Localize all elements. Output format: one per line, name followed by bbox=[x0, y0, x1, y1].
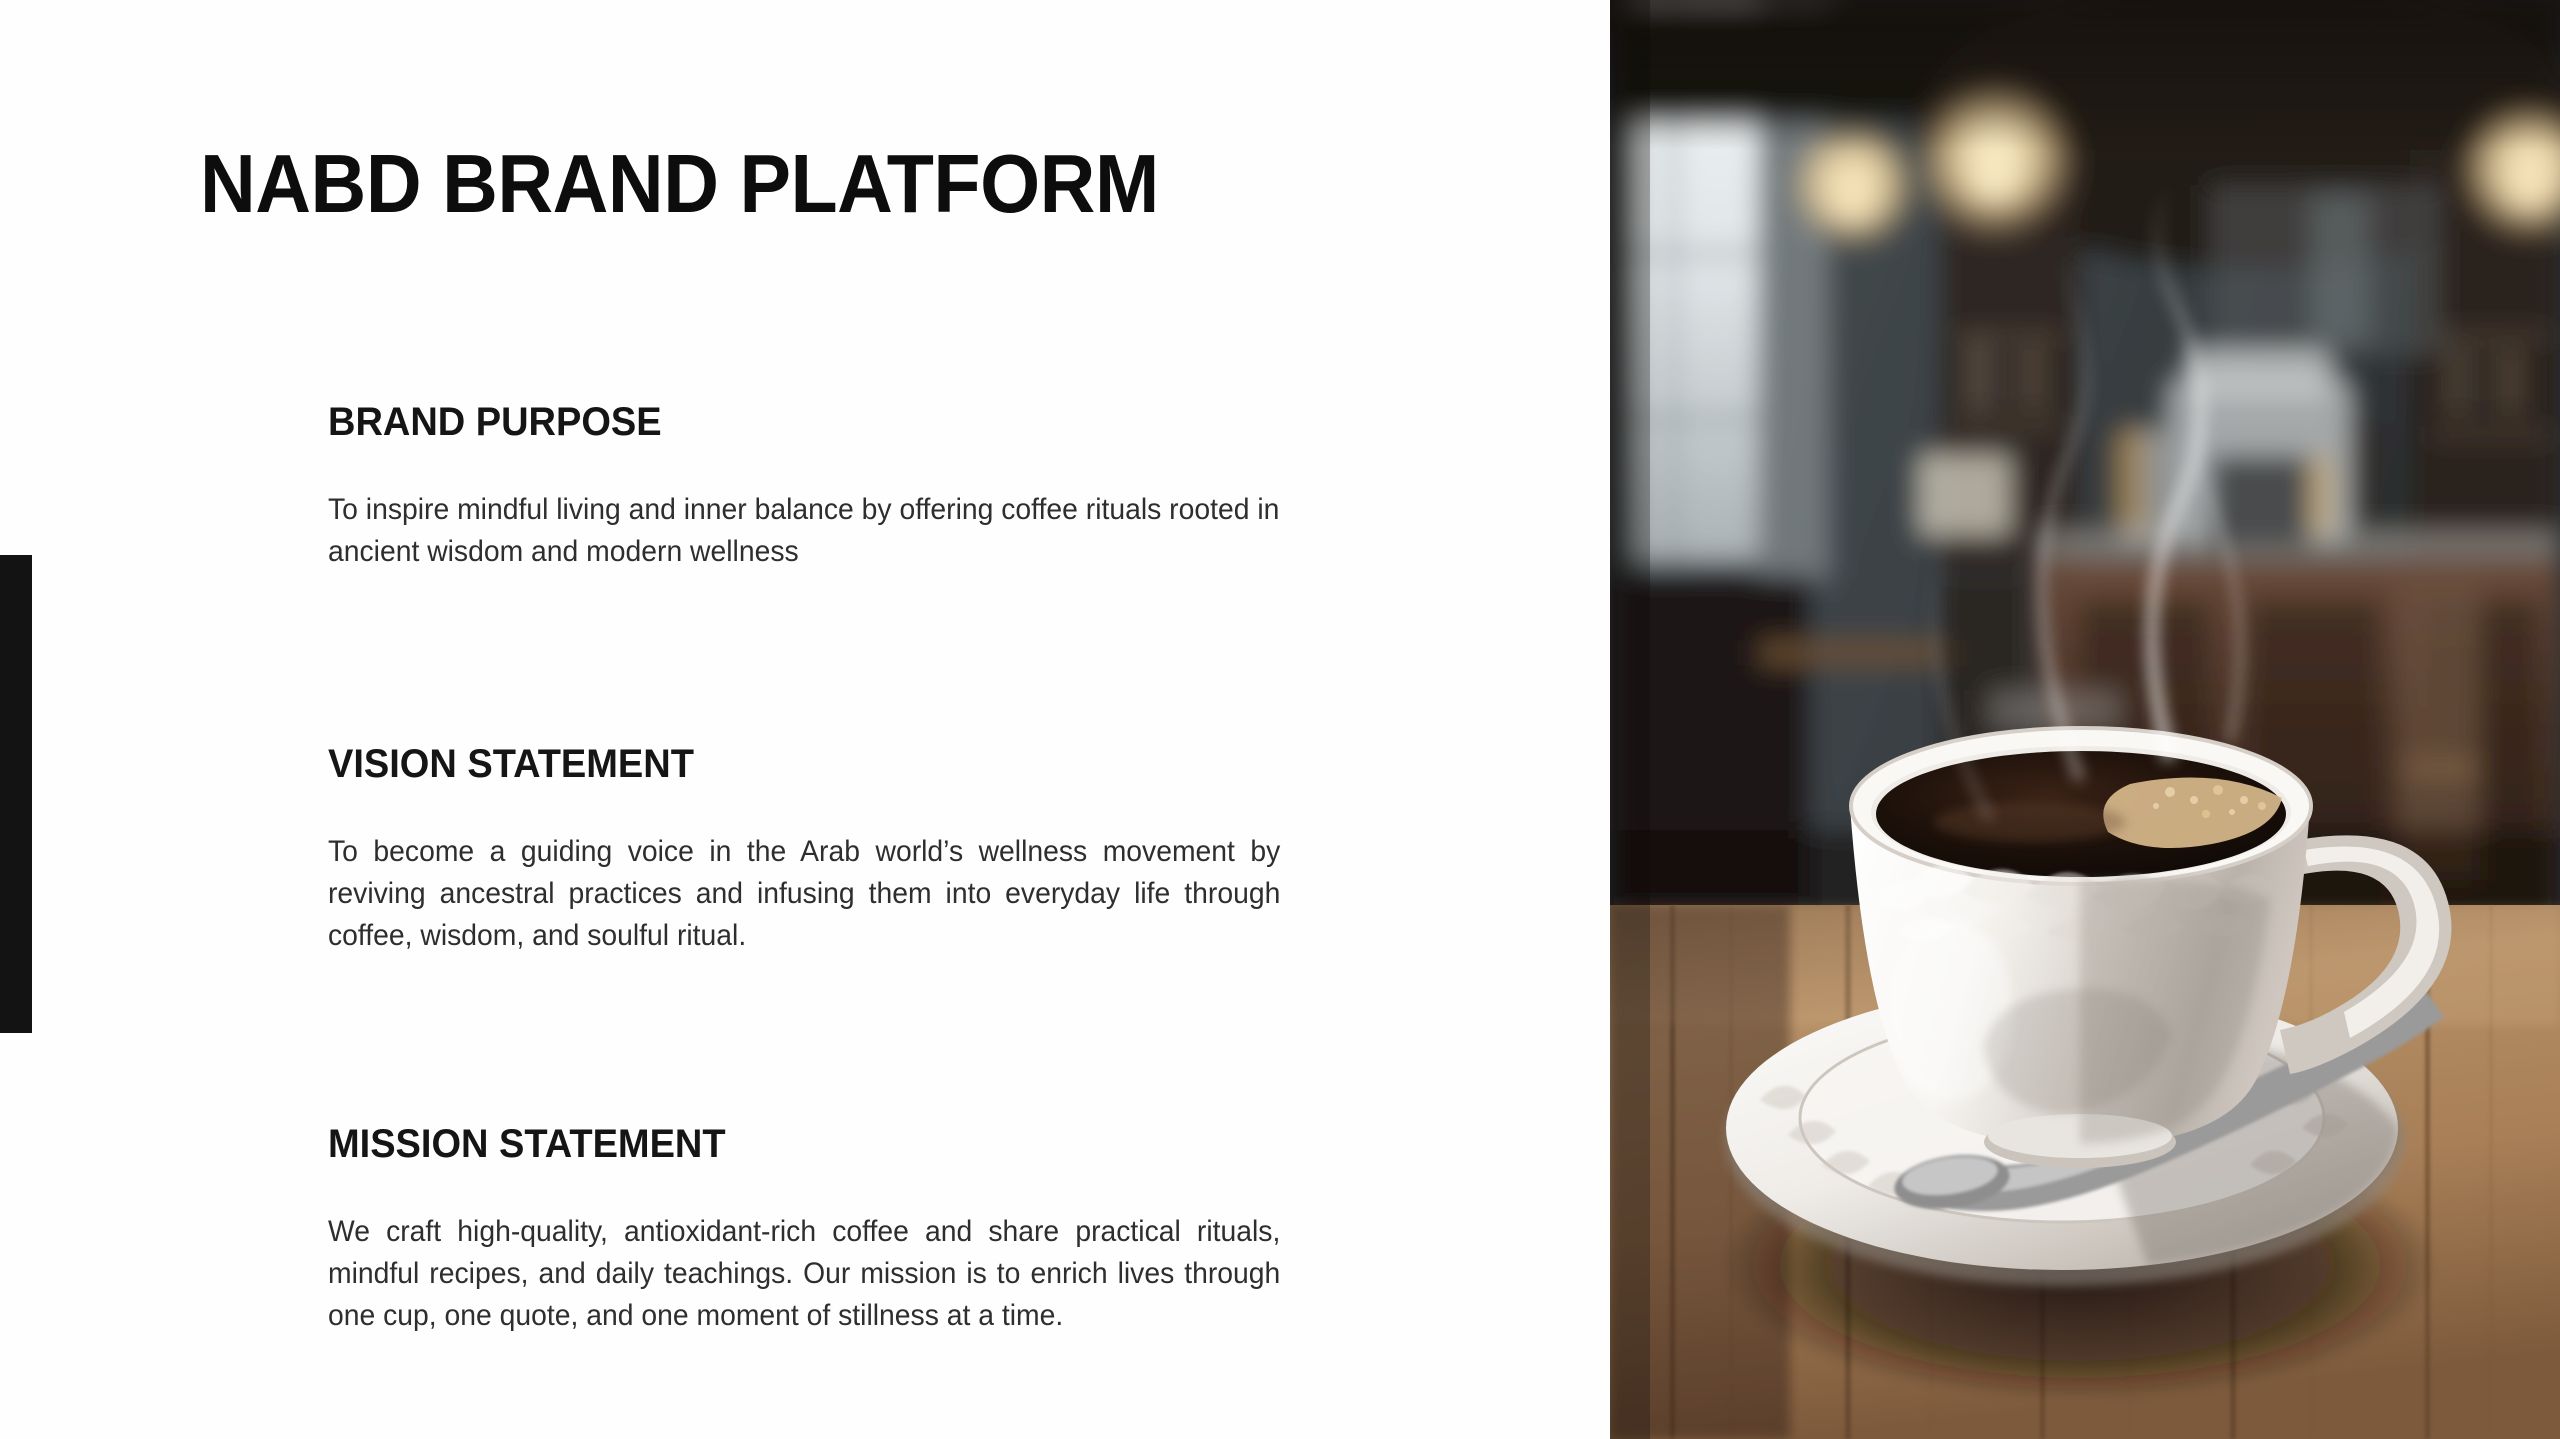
section-body-vision-statement: To become a guiding voice in the Arab wo… bbox=[328, 831, 1280, 957]
slide-canvas: NABD BRAND PLATFORM BRAND PURPOSE To ins… bbox=[0, 0, 2560, 1439]
section-heading-mission-statement: MISSION STATEMENT bbox=[328, 1122, 1232, 1166]
section-body-mission-statement: We craft high-quality, antioxidant-rich … bbox=[328, 1211, 1280, 1337]
text-content-column: NABD BRAND PLATFORM BRAND PURPOSE To ins… bbox=[0, 0, 1610, 1439]
section-heading-brand-purpose: BRAND PURPOSE bbox=[328, 400, 1232, 444]
section-mission-statement: MISSION STATEMENT We craft high-quality,… bbox=[328, 1122, 1280, 1337]
section-vision-statement: VISION STATEMENT To become a guiding voi… bbox=[328, 742, 1280, 957]
section-body-brand-purpose: To inspire mindful living and inner bala… bbox=[328, 489, 1280, 573]
section-heading-vision-statement: VISION STATEMENT bbox=[328, 742, 1232, 786]
section-brand-purpose: BRAND PURPOSE To inspire mindful living … bbox=[328, 400, 1280, 573]
page-title: NABD BRAND PLATFORM bbox=[200, 142, 1159, 225]
coffee-cup-photo bbox=[1610, 0, 2560, 1439]
